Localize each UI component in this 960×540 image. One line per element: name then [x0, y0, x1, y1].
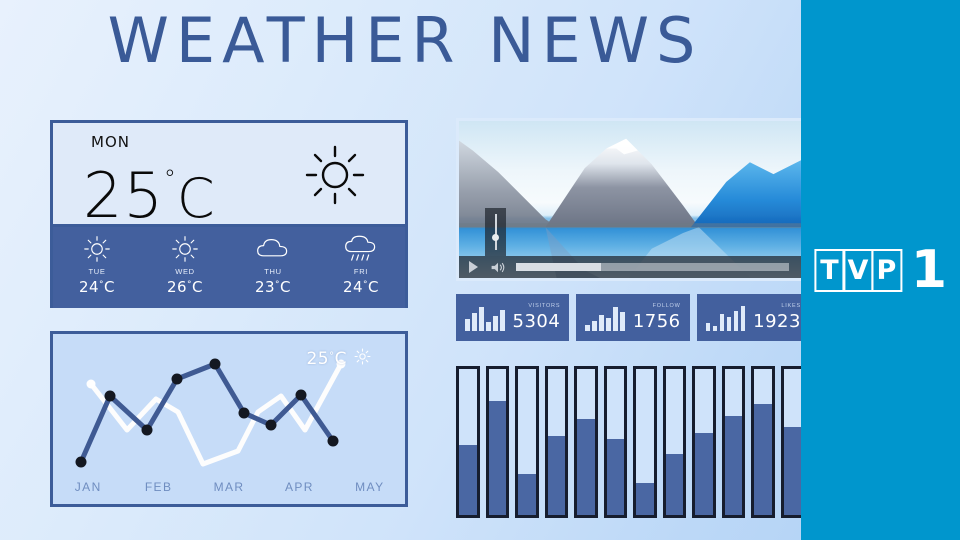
tvp-letter-p: P: [871, 249, 902, 292]
forecast-card: MON 25°C: [50, 120, 408, 308]
video-player[interactable]: [456, 118, 804, 281]
forecast-day-name: TUE: [88, 267, 105, 276]
gauge-bar: [663, 366, 687, 518]
video-controls: [459, 256, 801, 278]
rain-cloud-icon: [344, 234, 378, 264]
chart-data-point: [239, 408, 250, 419]
sparkline-bar: [720, 314, 725, 331]
forecast-day-wed[interactable]: WED 26°C: [141, 227, 229, 308]
gauge-bar: [722, 366, 746, 518]
gauge-bar-chart: [456, 366, 804, 518]
stat-text: VISITORS 5304: [513, 304, 561, 331]
progress-fill: [516, 263, 601, 271]
cloud-icon: [256, 234, 290, 264]
forecast-day-tue[interactable]: TUE 24°C: [53, 227, 141, 308]
sparkline-bar: [727, 317, 732, 331]
forecast-day-name: FRI: [354, 267, 368, 276]
chart-data-point: [328, 436, 339, 447]
gauge-bar: [545, 366, 569, 518]
page-title: WEATHER NEWS: [0, 2, 810, 80]
stat-label: VISITORS: [528, 304, 560, 310]
sparkline-bar: [585, 325, 590, 331]
axis-label-mar: MAR: [194, 480, 264, 494]
gauge-fill: [784, 427, 802, 515]
gauge-bar: [515, 366, 539, 518]
sparkline-bar: [479, 307, 484, 331]
stats-row: VISITORS 5304 FOLLOW 1756 LIKES 1923: [456, 294, 804, 341]
degree-symbol: °: [164, 165, 177, 193]
temperature-trend-chart: 25°C JAN FEB MAR APR MAY: [50, 331, 408, 507]
axis-label-feb: FEB: [123, 480, 193, 494]
sparkline-bar: [486, 322, 491, 331]
today-forecast-row: MON 25°C: [53, 123, 405, 227]
tvp-letter-boxes: T V P: [814, 249, 902, 292]
stat-value: 1923: [753, 313, 801, 331]
chart-data-point: [296, 390, 307, 401]
sparkline-bar: [734, 311, 739, 331]
volume-knob[interactable]: [492, 234, 499, 241]
progress-bar[interactable]: [516, 263, 789, 271]
weather-news-broadcast-screen: WEATHER NEWS MON 25°C: [0, 0, 960, 540]
forecast-day-temp: 24°C: [79, 278, 115, 296]
stat-chip-visitors[interactable]: VISITORS 5304: [456, 294, 569, 341]
chart-data-point: [172, 374, 183, 385]
gauge-bar: [633, 366, 657, 518]
chart-data-point: [87, 380, 96, 389]
chart-data-point: [76, 457, 87, 468]
volume-track[interactable]: [495, 214, 497, 250]
stat-label: FOLLOW: [653, 304, 681, 310]
tvp-letter-t: T: [814, 249, 845, 292]
sparkline-bar: [592, 321, 597, 331]
gauge-fill: [754, 404, 772, 515]
stat-value: 5304: [513, 313, 561, 331]
axis-label-jan: JAN: [53, 480, 123, 494]
tvp-logo: T V P 1: [814, 244, 947, 296]
gauge-fill: [666, 454, 684, 515]
gauge-bar: [604, 366, 628, 518]
chart-data-point: [105, 391, 116, 402]
gauge-bar: [751, 366, 775, 518]
gauge-fill: [725, 416, 743, 515]
stat-text: LIKES 1923: [753, 304, 801, 331]
gauge-bar: [486, 366, 510, 518]
gauge-bar: [456, 366, 480, 518]
today-temperature-value: 25: [83, 159, 164, 232]
today-temperature: 25°C: [83, 145, 215, 233]
tvp-channel-panel: T V P 1: [801, 0, 960, 540]
sparkline-bar: [713, 326, 718, 331]
gauge-fill: [607, 439, 625, 515]
chart-temperature-badge: 25°C: [306, 348, 371, 370]
sun-icon: [354, 348, 371, 370]
sun-icon: [171, 234, 199, 264]
gauge-fill: [489, 401, 507, 515]
sparkline-bar: [472, 313, 477, 331]
tvp-letter-v: V: [842, 249, 873, 292]
gauge-fill: [577, 419, 595, 515]
gauge-fill: [459, 445, 477, 515]
forecast-day-temp: 24°C: [343, 278, 379, 296]
chart-data-point: [142, 425, 153, 436]
sparkline-bars: [706, 305, 746, 331]
volume-slider[interactable]: [485, 208, 506, 256]
sparkline-bar: [620, 312, 625, 331]
sparkline-bar: [613, 307, 618, 331]
play-icon[interactable]: [469, 261, 478, 273]
sparkline-bars: [585, 305, 625, 331]
gauge-fill: [636, 483, 654, 515]
sun-icon: [83, 234, 111, 264]
stat-text: FOLLOW 1756: [633, 304, 681, 331]
gauge-fill: [548, 436, 566, 515]
forecast-day-name: WED: [175, 267, 195, 276]
temperature-unit: C: [177, 167, 215, 230]
forecast-day-fri[interactable]: FRI 24°C: [317, 227, 405, 308]
sparkline-bars: [465, 305, 505, 331]
sparkline-bar: [706, 323, 711, 331]
stat-value: 1756: [633, 313, 681, 331]
gauge-fill: [518, 474, 536, 515]
weekly-forecast-row: TUE 24°C WED 26°C: [53, 227, 405, 308]
chart-data-point: [266, 420, 277, 431]
sparkline-bar: [465, 319, 470, 331]
sparkline-bar: [500, 310, 505, 331]
volume-icon[interactable]: [490, 261, 506, 274]
gauge-bar: [692, 366, 716, 518]
axis-label-apr: APR: [264, 480, 334, 494]
sparkline-bar: [599, 315, 604, 331]
stat-chip-likes[interactable]: LIKES 1923: [697, 294, 810, 341]
gauge-fill: [695, 433, 713, 515]
chart-data-point: [210, 359, 221, 370]
sun-icon: [303, 143, 367, 212]
forecast-day-thu[interactable]: THU 23°C: [229, 227, 317, 308]
axis-label-may: MAY: [335, 480, 405, 494]
tvp-channel-number: 1: [911, 244, 947, 296]
gauge-bar: [574, 366, 598, 518]
forecast-day-temp: 26°C: [167, 278, 203, 296]
chart-x-axis-labels: JAN FEB MAR APR MAY: [53, 480, 405, 494]
sparkline-bar: [606, 318, 611, 331]
forecast-day-name: THU: [264, 267, 282, 276]
chart-badge-text: 25°C: [306, 349, 347, 369]
forecast-day-temp: 23°C: [255, 278, 291, 296]
sparkline-bar: [493, 316, 498, 331]
stat-label: LIKES: [781, 304, 801, 310]
sparkline-bar: [741, 306, 746, 331]
stat-chip-follow[interactable]: FOLLOW 1756: [576, 294, 689, 341]
